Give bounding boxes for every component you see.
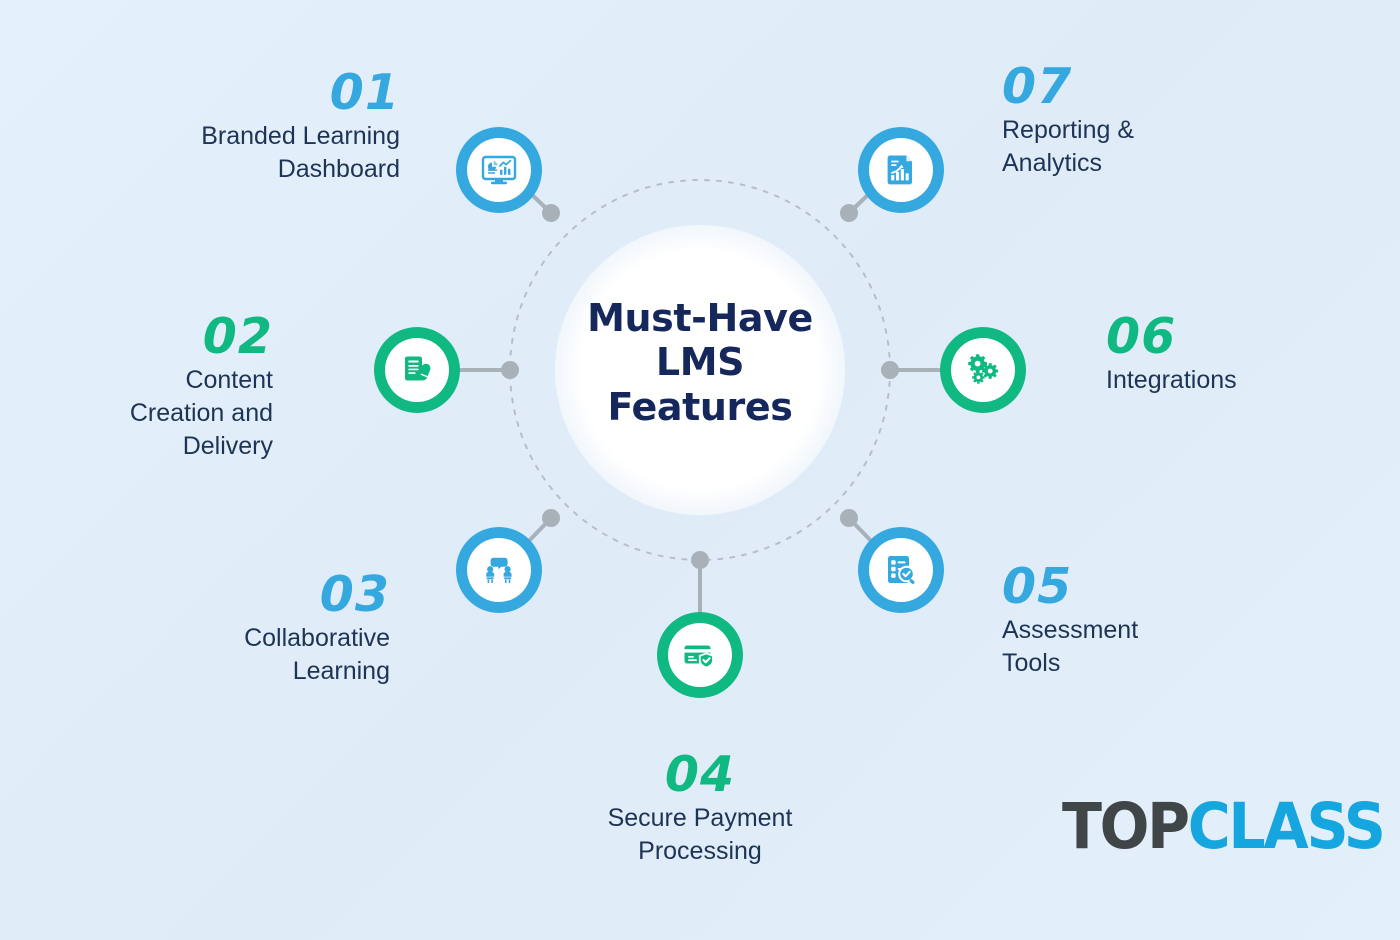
center-title-line-1: Must-Have — [540, 296, 860, 340]
label-06-number: 06 — [1106, 312, 1386, 361]
label-06: 06 Integrations — [1106, 312, 1386, 397]
label-02-number: 02 — [0, 312, 273, 361]
checklist-magnifier-icon — [882, 551, 920, 589]
node-icon-07-disc — [869, 138, 933, 202]
label-04-text: Secure Payment Processing — [550, 802, 850, 868]
label-07-number: 07 — [1002, 62, 1302, 111]
report-chart-icon — [882, 151, 920, 189]
people-discussion-icon — [479, 550, 519, 590]
label-04: 04 Secure Payment Processing — [550, 750, 850, 868]
node-icon-01-disc — [467, 138, 531, 202]
node-icon-03-disc — [467, 538, 531, 602]
brand-logo: TOPCLASS — [1062, 795, 1384, 858]
label-03-text: Collaborative Learning — [110, 622, 390, 688]
node-icon-07[interactable] — [858, 127, 944, 213]
brand-logo-class: CLASS — [1188, 790, 1384, 863]
infographic-canvas: Must-Have LMS Features 01 Branded Learni… — [0, 0, 1400, 940]
node-icon-05[interactable] — [858, 527, 944, 613]
label-05: 05 Assessment Tools — [1002, 562, 1302, 680]
label-07: 07 Reporting & Analytics — [1002, 62, 1302, 180]
center-title-line-2: LMS — [540, 340, 860, 384]
label-07-text: Reporting & Analytics — [1002, 114, 1302, 180]
node-icon-02-disc — [385, 338, 449, 402]
center-title: Must-Have LMS Features — [540, 296, 860, 429]
center-title-line-3: Features — [540, 385, 860, 429]
label-05-text: Assessment Tools — [1002, 614, 1302, 680]
node-icon-06-disc — [951, 338, 1015, 402]
document-pen-icon — [398, 351, 436, 389]
label-05-number: 05 — [1002, 562, 1302, 611]
label-03: 03 Collaborative Learning — [110, 570, 390, 688]
credit-card-shield-icon — [680, 635, 720, 675]
label-01-text: Branded Learning Dashboard — [100, 120, 400, 186]
brand-logo-top: TOP — [1062, 790, 1188, 863]
node-icon-03[interactable] — [456, 527, 542, 613]
node-icon-01[interactable] — [456, 127, 542, 213]
gears-icon — [963, 350, 1003, 390]
node-icon-05-disc — [869, 538, 933, 602]
label-04-number: 04 — [550, 750, 850, 799]
node-icon-04[interactable] — [657, 612, 743, 698]
label-06-text: Integrations — [1106, 364, 1386, 397]
label-01-number: 01 — [100, 68, 400, 117]
dashboard-monitor-icon — [479, 150, 519, 190]
label-03-number: 03 — [110, 570, 390, 619]
node-icon-06[interactable] — [940, 327, 1026, 413]
node-icon-02[interactable] — [374, 327, 460, 413]
node-icon-04-disc — [668, 623, 732, 687]
label-01: 01 Branded Learning Dashboard — [100, 68, 400, 186]
label-02-text: Content Creation and Delivery — [0, 364, 273, 463]
label-02: 02 Content Creation and Delivery — [0, 312, 273, 463]
